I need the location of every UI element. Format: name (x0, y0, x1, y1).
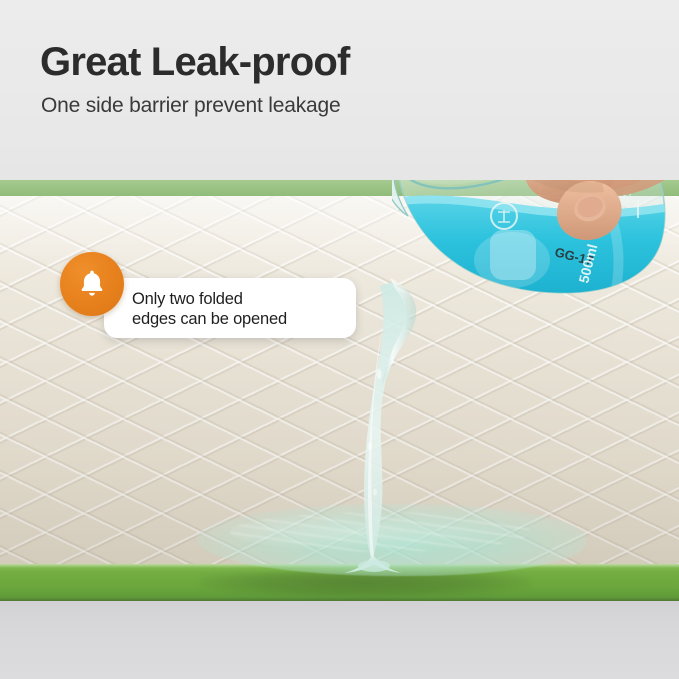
background-floor (0, 601, 679, 679)
header-banner: Great Leak-proof One side barrier preven… (0, 0, 679, 180)
beaker-liquid (392, 196, 679, 324)
callout-text-line-2: edges can be opened (132, 309, 362, 329)
callout-text: Only two folded edges can be opened (132, 289, 362, 329)
feature-callout: Only two folded edges can be opened (60, 252, 360, 344)
puddle-sheen (230, 512, 530, 552)
product-feature-image: 500 APPROX 200 300 GG-17 500ml (0, 0, 679, 679)
callout-badge (60, 252, 124, 316)
callout-text-line-1: Only two folded (132, 290, 243, 308)
green-edge-wet-patch (200, 572, 530, 598)
page-subtitle: One side barrier prevent leakage (41, 95, 340, 116)
page-title: Great Leak-proof (40, 42, 350, 82)
bell-icon (75, 267, 109, 301)
